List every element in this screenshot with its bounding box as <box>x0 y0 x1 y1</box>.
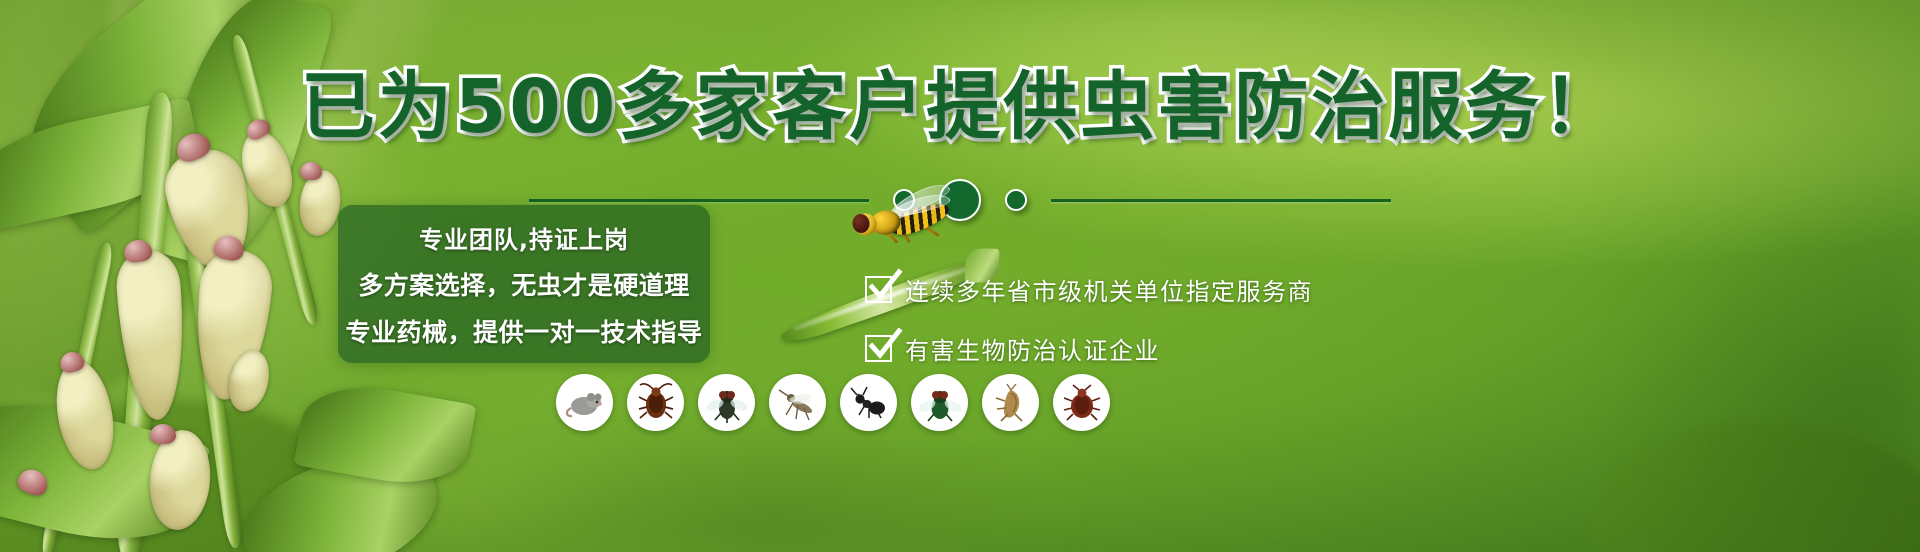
divider-line-right <box>1051 199 1391 202</box>
feature-line-2: 多方案选择，无虫才是硬道理 <box>358 266 690 302</box>
banner-headline: 已为500多家客户提供虫害防治服务！ <box>0 70 1920 144</box>
feature-panel: 专业团队,持证上岗 多方案选择，无虫才是硬道理 专业药械，提供一对一技术指导 <box>338 205 710 363</box>
pest-icon-flea[interactable] <box>982 374 1039 431</box>
checkbox-checked-icon <box>865 335 892 362</box>
certification-checklist: 连续多年省市级机关单位指定服务商 有害生物防治认证企业 <box>865 272 1313 366</box>
cockroach-icon <box>634 381 678 425</box>
rat-icon <box>563 381 607 425</box>
promo-banner: 已为500多家客户提供虫害防治服务！ 专业团队,持证上岗 多方案选择，无虫才是硬… <box>0 0 1920 552</box>
checkbox-checked-icon <box>865 276 892 303</box>
blowfly-icon <box>918 381 962 425</box>
pest-icon-fly[interactable] <box>698 374 755 431</box>
mosquito-icon <box>776 381 820 425</box>
aphid-cluster <box>114 248 190 422</box>
feature-line-3: 专业药械，提供一对一技术指导 <box>346 313 703 349</box>
checklist-item-label: 连续多年省市级机关单位指定服务商 <box>905 272 1313 307</box>
divider-dot-small-right <box>1005 189 1027 211</box>
pest-icon-ant[interactable] <box>840 374 897 431</box>
pest-icon-bedbug[interactable] <box>1053 374 1110 431</box>
pest-icon-row <box>556 374 1110 431</box>
checklist-item: 有害生物防治认证企业 <box>865 331 1313 366</box>
banner-headline-text: 已为500多家客户提供虫害防治服务！ <box>301 64 1619 150</box>
divider-line-left <box>529 199 869 202</box>
pest-icon-cockroach[interactable] <box>627 374 684 431</box>
pest-icon-blowfly[interactable] <box>911 374 968 431</box>
plant-bud <box>300 162 322 180</box>
plant-bud <box>150 424 176 444</box>
checklist-item-label: 有害生物防治认证企业 <box>905 331 1160 366</box>
checklist-item: 连续多年省市级机关单位指定服务商 <box>865 272 1313 307</box>
ant-icon <box>847 381 891 425</box>
pest-icon-rat[interactable] <box>556 374 613 431</box>
bedbug-icon <box>1060 381 1104 425</box>
flea-icon <box>989 381 1033 425</box>
fly-icon <box>705 381 749 425</box>
pest-icon-mosquito[interactable] <box>769 374 826 431</box>
feature-line-1: 专业团队,持证上岗 <box>419 220 629 255</box>
